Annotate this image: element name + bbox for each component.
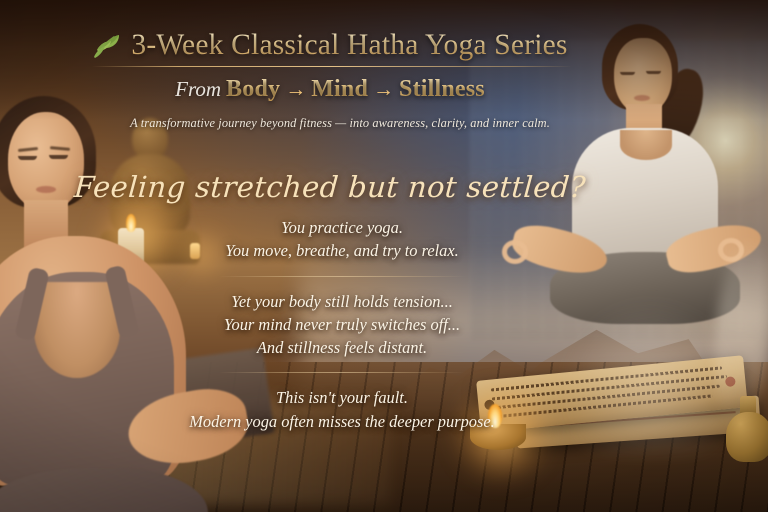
copy-block: Yet your body still holds tension... You… — [224, 290, 460, 360]
copy-line: This isn't your fault. — [189, 386, 494, 409]
subtitle-word-body: Body — [226, 76, 280, 102]
subtitle-word-stillness: Stillness — [399, 76, 485, 102]
poster-text-content: 3-Week Classical Hatha Yoga Series FromB… — [0, 0, 768, 512]
section-divider — [219, 276, 465, 277]
title-underline — [92, 66, 572, 67]
leaf-sprig-icon — [92, 31, 122, 59]
copy-block: You practice yoga. You move, breathe, an… — [225, 216, 459, 263]
subtitle-word-mind: Mind — [311, 76, 368, 102]
page-title: 3-Week Classical Hatha Yoga Series — [131, 29, 567, 62]
copy-line: Modern yoga often misses the deeper purp… — [189, 410, 494, 433]
arrow-icon: → — [373, 77, 394, 101]
section-divider — [219, 372, 465, 373]
headline-question: Feeling stretched but not settled? — [0, 170, 661, 204]
copy-line: You practice yoga. — [225, 216, 459, 239]
copy-line: Your mind never truly switches off... — [224, 313, 460, 336]
subtitle-from: From — [175, 77, 221, 101]
copy-line: You move, breathe, and try to relax. — [225, 239, 459, 262]
poster-canvas: 3-Week Classical Hatha Yoga Series FromB… — [0, 0, 768, 512]
tagline: A transformative journey beyond fitness … — [0, 116, 680, 131]
copy-line: Yet your body still holds tension... — [224, 290, 460, 313]
title-row: 3-Week Classical Hatha Yoga Series — [0, 29, 660, 62]
copy-line: And stillness feels distant. — [224, 336, 460, 359]
body-copy-blocks: You practice yoga. You move, breathe, an… — [0, 216, 684, 433]
subtitle: FromBody→Mind→Stillness — [0, 76, 660, 103]
copy-block: This isn't your fault. Modern yoga often… — [189, 386, 494, 433]
arrow-icon: → — [285, 77, 306, 101]
